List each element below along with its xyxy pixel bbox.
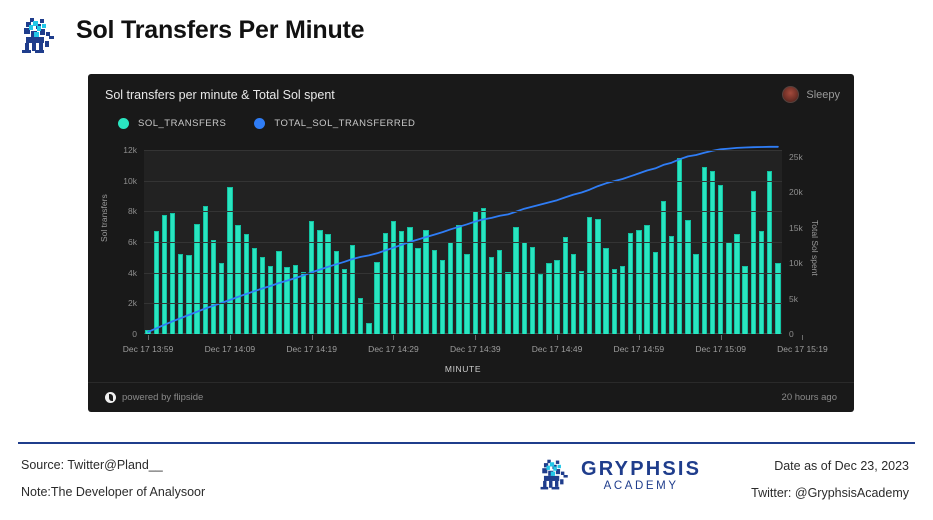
header: Sol Transfers Per Minute [0,0,933,68]
y-axis-left-tick: 10k [123,176,137,186]
x-axis-tick-label: Dec 17 14:19 [286,344,337,354]
x-axis-tick-mark [639,335,640,340]
y-axis-right-tick: 20k [789,187,803,197]
legend-item[interactable]: SOL_TRANSFERS [118,118,226,129]
chart-card-footer: powered by flipside 20 hours ago [88,382,854,412]
x-axis-tick-mark [802,335,803,340]
x-axis-title: MINUTE [144,364,782,374]
powered-by-label: powered by flipside [122,392,203,403]
x-axis-tick-label: Dec 17 15:09 [695,344,746,354]
y-axis-left-tick: 12k [123,145,137,155]
legend-color-dot [118,118,129,129]
x-axis-tick-mark [312,335,313,340]
slide-root: Sol Transfers Per Minute Sol transfers p… [0,0,933,520]
gryphsis-dragon-logo-icon [537,458,573,492]
legend-label: TOTAL_SOL_TRANSFERRED [274,118,415,129]
x-axis-tick-label: Dec 17 14:09 [205,344,256,354]
gridline [144,181,782,182]
x-axis-tick-mark [721,335,722,340]
flipside-logo-icon [105,392,116,403]
x-axis-tick-mark [148,335,149,340]
footer-source: Source: Twitter@Pland__ [21,458,205,472]
y-axis-left-tick: 8k [128,206,137,216]
footer-divider [18,442,915,444]
chart-title: Sol transfers per minute & Total Sol spe… [105,88,335,102]
x-axis-tick-mark [230,335,231,340]
y-axis-right-label: Total Sol spent [810,220,820,276]
footer-twitter: Twitter: @GryphsisAcademy [751,486,909,500]
gridline [144,273,782,274]
owner-name: Sleepy [806,89,840,101]
footer-logo: GRYPHSIS ACADEMY [537,458,701,492]
footer-right: Date as of Dec 23, 2023 Twitter: @Gryphs… [751,459,909,513]
y-axis-left-tick: 4k [128,268,137,278]
plot-area: 02k4k6k8k10k12k05k10k15k20k25k [144,150,782,334]
y-axis-left-tick: 0 [132,329,137,339]
powered-by[interactable]: powered by flipside [105,392,203,403]
y-axis-right-tick: 0 [789,329,794,339]
legend-item[interactable]: TOTAL_SOL_TRANSFERRED [254,118,415,129]
x-axis-tick-mark [393,335,394,340]
footer-logo-subtitle: ACADEMY [604,480,679,492]
x-axis-tick-label: Dec 17 14:59 [614,344,665,354]
footer-date: Date as of Dec 23, 2023 [751,459,909,473]
x-axis-tick-label: Dec 17 15:19 [777,344,828,354]
x-axis-tick-label: Dec 17 14:29 [368,344,419,354]
gridline [144,150,782,151]
y-axis-right-tick: 5k [789,294,798,304]
x-axis-tick-mark [475,335,476,340]
footer-logo-title: GRYPHSIS [581,459,701,480]
footer-note: Note:The Developer of Analysoor [21,485,205,499]
chart-legend: SOL_TRANSFERSTOTAL_SOL_TRANSFERRED [118,118,415,129]
legend-color-dot [254,118,265,129]
footer-left: Source: Twitter@Pland__ Note:The Develop… [21,458,205,512]
gryphsis-dragon-logo-icon [18,16,60,56]
page-title: Sol Transfers Per Minute [76,16,364,45]
chart-owner[interactable]: Sleepy [782,86,840,103]
y-axis-right-tick: 25k [789,152,803,162]
y-axis-left-tick: 6k [128,237,137,247]
y-axis-left-label: Sol transfers [99,194,109,242]
gridline [144,242,782,243]
y-axis-right-tick: 10k [789,258,803,268]
y-axis-right-tick: 15k [789,223,803,233]
legend-label: SOL_TRANSFERS [138,118,226,129]
x-axis-tick-label: Dec 17 14:49 [532,344,583,354]
footer-logo-text: GRYPHSIS ACADEMY [581,459,701,492]
chart-card: Sol transfers per minute & Total Sol spe… [88,74,854,412]
x-axis-tick-mark [557,335,558,340]
x-axis-tick-label: Dec 17 14:39 [450,344,501,354]
chart-timestamp: 20 hours ago [782,392,837,403]
user-avatar-icon [782,86,799,103]
plot-wrapper: Sol transfers Total Sol spent 02k4k6k8k1… [88,142,854,372]
y-axis-left-tick: 2k [128,298,137,308]
gridline [144,211,782,212]
x-axis-tick-label: Dec 17 13:59 [123,344,174,354]
gridline [144,303,782,304]
